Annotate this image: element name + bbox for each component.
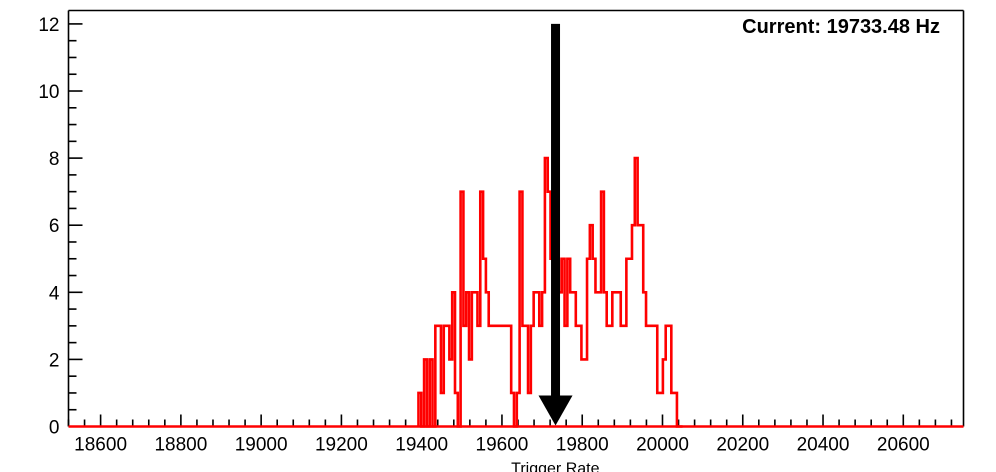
x-tick-label: 18800 bbox=[154, 435, 207, 456]
x-axis-title: Trigger Rate bbox=[511, 461, 599, 472]
x-tick-label: 19600 bbox=[476, 435, 529, 456]
current-rate-annotation: Current: 19733.48 Hz bbox=[742, 16, 940, 38]
current-marker-arrowhead bbox=[539, 396, 573, 426]
histogram-trace bbox=[418, 125, 682, 427]
x-tick-label: 19200 bbox=[315, 435, 368, 456]
y-tick-label: 4 bbox=[49, 283, 60, 304]
x-tick-label: 19000 bbox=[235, 435, 288, 456]
y-tick-label: 8 bbox=[49, 149, 60, 170]
histogram-canvas: 0246810121860018800190001920019400196001… bbox=[0, 0, 996, 472]
x-tick-label: 19800 bbox=[556, 435, 609, 456]
x-tick-label: 20200 bbox=[716, 435, 769, 456]
x-tick-label: 20400 bbox=[797, 435, 850, 456]
y-tick-label: 10 bbox=[38, 82, 59, 103]
x-tick-label: 20600 bbox=[877, 435, 930, 456]
y-tick-label: 6 bbox=[49, 216, 60, 237]
y-tick-label: 0 bbox=[49, 418, 60, 439]
x-tick-label: 18600 bbox=[74, 435, 127, 456]
y-tick-label: 2 bbox=[49, 350, 60, 371]
y-tick-label: 12 bbox=[38, 15, 59, 36]
x-tick-label: 19400 bbox=[395, 435, 448, 456]
x-tick-label: 20000 bbox=[636, 435, 689, 456]
trigger-rate-histogram: 0246810121860018800190001920019400196001… bbox=[0, 0, 996, 472]
